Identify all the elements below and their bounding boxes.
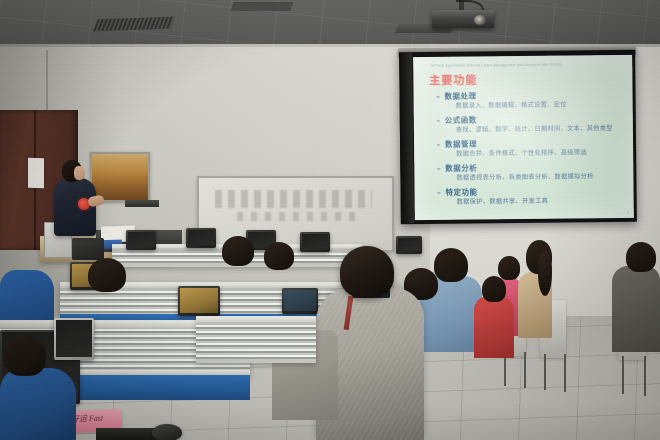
chair-leg — [644, 356, 646, 396]
attendee-head — [222, 236, 254, 266]
slide-section: 数据分析 数据透视表分析、各类图表分析、数据模拟分析 — [436, 161, 625, 184]
attendee-head — [482, 276, 506, 302]
attendee-head — [498, 256, 520, 280]
monitor-screen — [302, 234, 328, 249]
monitor — [186, 228, 216, 248]
chair-leg — [622, 356, 624, 394]
whiteboard-writing-second-line — [237, 212, 357, 221]
podium-monitor — [72, 238, 104, 260]
classroom-photo: OFFICE Application Tutorial | Data Manag… — [0, 0, 660, 440]
slide-header-text: OFFICE Application Tutorial | Data Manag… — [430, 63, 562, 68]
slide-section-detail: 数据录入、数据编辑、格式设置、定位 — [436, 100, 625, 112]
presenter-face — [74, 166, 85, 180]
partition-slats — [196, 325, 316, 359]
monitor — [300, 232, 330, 252]
slide-section-detail: 数据保护、数据共享、开发工具 — [437, 196, 626, 208]
chair-leg — [524, 352, 526, 388]
attendee-blue-jacket-foreground-body — [0, 368, 76, 440]
slide-section-detail: 数据透视表分析、各类图表分析、数据模拟分析 — [436, 172, 625, 184]
chair-leg — [544, 354, 546, 390]
attendee-head — [434, 248, 468, 282]
slide-section: 数据管理 数据合并、条件格式、个性化排序、高级筛选 — [436, 137, 625, 160]
monitor-screen — [180, 288, 218, 313]
projection-screen-left-edge — [399, 53, 414, 223]
slide-section: 特定功能 数据保护、数据共享、开发工具 — [437, 185, 626, 208]
monitor — [126, 230, 156, 250]
slide-page-number: 5 — [627, 211, 629, 215]
slide-section: 数据处理 数据录入、数据编辑、格式设置、定位 — [436, 89, 625, 112]
wall-notice-paper — [28, 158, 44, 188]
whiteboard-marker-tray — [125, 200, 159, 207]
slide-section-detail: 数据合并、条件格式、个性化排序、高级筛选 — [436, 148, 625, 160]
attendee-head — [340, 246, 394, 298]
monitor — [54, 318, 94, 360]
monitor — [282, 288, 318, 314]
slide-title: 主要功能 — [429, 71, 477, 88]
attendee-hair — [538, 252, 552, 296]
attendee-blue-jacket-body — [0, 270, 54, 320]
monitor-screen — [128, 232, 154, 247]
slide-section: 公式函数 查找、逻辑、数学、统计、日期时间、文本、其他类型 — [436, 113, 625, 136]
whiteboard-writing — [215, 190, 372, 208]
computer-mouse[interactable] — [152, 424, 182, 440]
presentation-slide: OFFICE Application Tutorial | Data Manag… — [413, 55, 634, 220]
monitor — [396, 236, 422, 254]
attendee-light-blue-shirt-body — [612, 266, 660, 352]
attendee-red-shirt-body — [474, 296, 514, 358]
slide-body: 数据处理 数据录入、数据编辑、格式设置、定位 公式函数 查找、逻辑、数学、统计、… — [436, 89, 626, 211]
chair-leg — [564, 354, 566, 392]
presenter-torso — [54, 178, 96, 236]
attendee-head — [4, 336, 46, 376]
monitor-screen — [188, 230, 214, 245]
attendee-head — [264, 242, 294, 270]
projector-lens-icon — [474, 15, 486, 25]
monitor-screen — [56, 320, 92, 357]
monitor-screen — [284, 290, 316, 311]
ceiling-vent-secondary-icon — [230, 2, 293, 11]
monitor — [178, 286, 220, 316]
attendee-head — [626, 242, 656, 272]
slide-section-detail: 查找、逻辑、数学、统计、日期时间、文本、其他类型 — [436, 124, 625, 136]
monitor-screen — [398, 238, 420, 251]
cubicle-partition-row1-right — [196, 316, 316, 363]
attendee-head — [88, 258, 126, 292]
